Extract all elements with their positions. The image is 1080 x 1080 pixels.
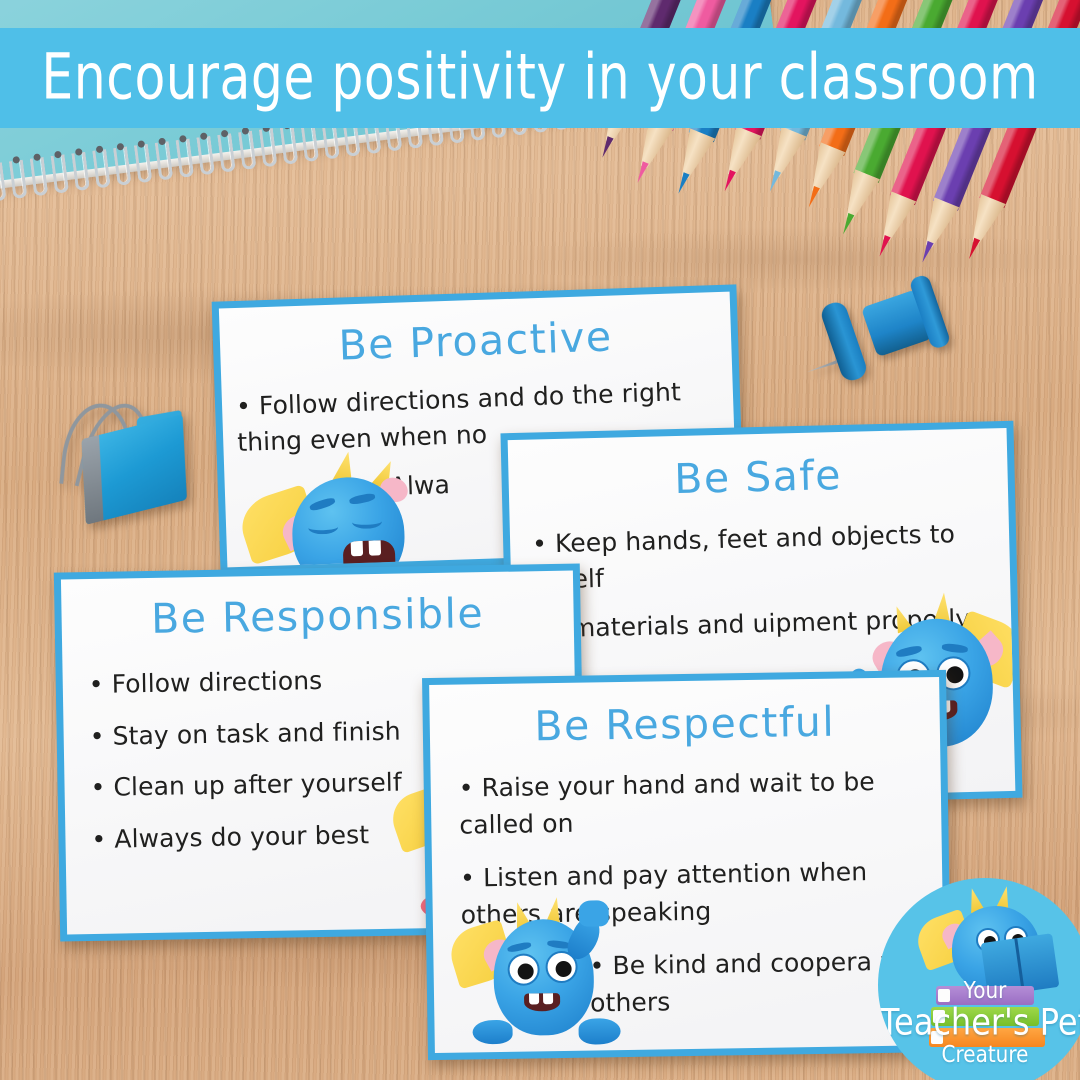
poster-card-respectful[interactable]: Be Respectful • Raise your hand and wait… [422, 670, 952, 1060]
notebook-spiral-coil [155, 141, 174, 180]
notebook-spiral-hole [95, 146, 103, 154]
logo-line-2: Teacher's Pet [878, 1000, 1080, 1044]
notebook-spiral-coil [92, 149, 111, 188]
notebook-spiral-hole [179, 135, 187, 143]
notebook-spiral-hole [74, 148, 82, 156]
card-title-respectful: Be Respectful [429, 696, 940, 752]
notebook-spiral-coil [301, 123, 320, 162]
notebook-spiral-coil [176, 139, 195, 178]
notebook-spiral-hole [158, 138, 166, 146]
logo-line-3: Creature [878, 1040, 1080, 1068]
monster-mouth [343, 540, 396, 568]
notebook-spiral-coil [0, 162, 7, 201]
notebook-spiral-coil [280, 125, 299, 164]
card-title-safe: Be Safe [508, 447, 1008, 507]
monster-waving-icon [452, 894, 634, 1047]
notebook-spiral-coil [9, 160, 28, 199]
notebook-spiral-coil [71, 152, 90, 191]
card-title-proactive: Be Proactive [219, 309, 731, 374]
pencil-wood-cone [916, 197, 959, 252]
monster-pupil [518, 963, 534, 979]
poster-scene: Be Proactive • Follow directions and do … [0, 0, 1080, 1080]
notebook-spiral-hole [137, 140, 145, 148]
notebook-spiral-coil [217, 133, 236, 172]
notebook-spiral-coil [196, 136, 215, 175]
monster-leg [578, 1018, 620, 1045]
pencil-wood-cone [718, 126, 761, 181]
banner-title: Encourage positivity in your classroom [41, 41, 1038, 114]
list-item: • Raise your hand and wait to be called … [458, 762, 933, 843]
pencil-wood-cone [803, 142, 846, 197]
notebook-spiral-coil [51, 154, 70, 193]
list-item: • Keep hands, feet and objects to urself [532, 515, 1003, 599]
monster-pupil [555, 961, 571, 977]
notebook-spiral-hole [199, 132, 207, 140]
notebook-spiral-coil [134, 144, 153, 183]
notebook-spiral-coil [238, 131, 257, 170]
notebook-spiral-coil [113, 146, 132, 185]
monster-laughing-icon [246, 455, 420, 567]
pencil-wood-cone [837, 169, 880, 224]
pencil-wood-cone [764, 126, 807, 181]
monster-pupil [946, 666, 963, 683]
card-inner: Be Respectful • Raise your hand and wait… [429, 677, 945, 1053]
banner: Encourage positivity in your classroom [0, 28, 1080, 128]
monster-leg [472, 1020, 512, 1045]
pencil-wood-cone [873, 191, 916, 246]
notebook-spiral-hole [33, 153, 41, 161]
notebook-spiral-hole [54, 151, 62, 159]
monster-tooth [543, 993, 553, 1004]
notebook-spiral-hole [220, 130, 228, 138]
logo-text: Your Teacher's Pet Creature [878, 978, 1080, 1066]
notebook-spiral-hole [241, 127, 249, 135]
pencil-wood-cone [963, 194, 1006, 249]
notebook-spiral-coil [259, 128, 278, 167]
monster-tooth [351, 541, 363, 556]
pencil-wood-cone [672, 128, 715, 183]
card-title-responsible: Be Responsible [61, 588, 574, 645]
monster-tooth [529, 993, 539, 1004]
monster-hand [579, 900, 609, 926]
monster-tooth [369, 540, 381, 555]
notebook-spiral-coil [30, 157, 49, 196]
notebook-spiral-hole [12, 156, 20, 164]
notebook-spiral-hole [116, 143, 124, 151]
